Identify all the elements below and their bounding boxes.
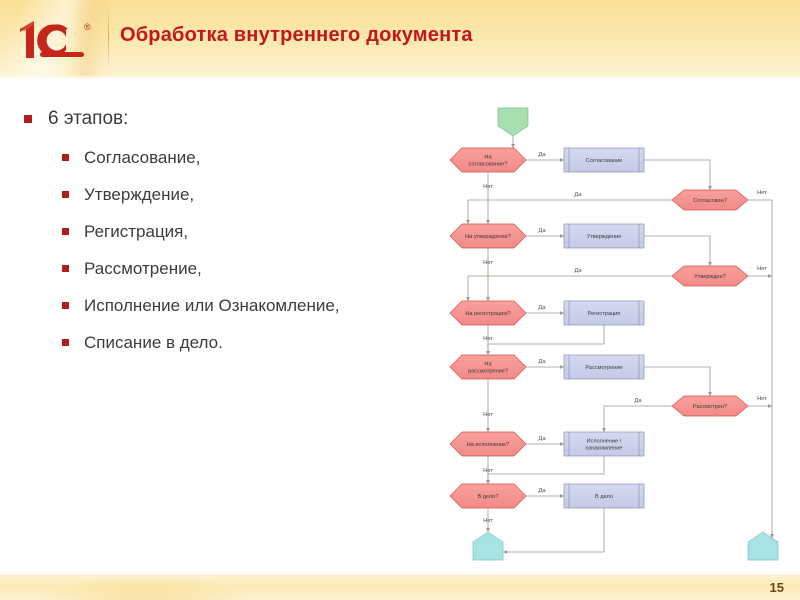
stage-sub-list: Согласование, Утверждение, Регистрация, … xyxy=(60,148,432,353)
flowchart-node-d-soglasovan[interactable]: Согласован? xyxy=(672,190,748,210)
flowchart-edge-label-17: Нет xyxy=(483,518,493,524)
flowchart-edge-23 xyxy=(503,508,604,552)
flowchart-edge-label-1: Нет xyxy=(483,184,493,190)
list-item-label: Списание в дело. xyxy=(84,333,223,352)
end-terminator-shape xyxy=(748,532,778,560)
flowchart-node-d-ispoln[interactable]: На исполнение? xyxy=(450,432,526,456)
flowchart-edge-label-4: Да xyxy=(538,228,546,234)
svg-text:Рассмотрен?: Рассмотрен? xyxy=(693,404,727,410)
list-item: Рассмотрение, xyxy=(60,259,432,279)
slide-footer xyxy=(0,574,800,600)
1c-logo: ® xyxy=(14,14,102,64)
flowchart-edge-20 xyxy=(488,456,604,484)
svg-text:Рассмотрение: Рассмотрение xyxy=(585,365,622,371)
flowchart-edge-label-2: Нет xyxy=(757,190,767,196)
flowchart-node-end-right[interactable] xyxy=(748,532,778,560)
bullet-square-icon xyxy=(62,339,69,346)
list-item: Согласование, xyxy=(60,148,432,168)
list-item: Списание в дело. xyxy=(60,333,432,353)
flowchart-edge-3 xyxy=(468,200,672,224)
flowchart-node-p-reg[interactable]: Регистрация xyxy=(564,301,644,325)
flowchart-edge-label-9: Нет xyxy=(483,336,493,342)
flowchart-edge-label-8: Да xyxy=(538,305,546,311)
flowchart-node-end-left[interactable] xyxy=(473,532,503,560)
svg-text:Согласован?: Согласован? xyxy=(693,198,727,204)
list-item-label: Регистрация, xyxy=(84,222,188,241)
slide: ® Обработка внутреннего документа 6 этап… xyxy=(0,0,800,600)
flowchart-node-p-soglas[interactable]: Согласование xyxy=(564,148,644,172)
svg-text:Регистрация: Регистрация xyxy=(588,311,621,317)
flowchart-edge-label-5: Нет xyxy=(483,260,493,266)
svg-text:На исполнение?: На исполнение? xyxy=(467,442,510,448)
list-item: Регистрация, xyxy=(60,222,432,242)
svg-text:На регистрацию?: На регистрацию? xyxy=(465,311,510,317)
bullet-square-icon xyxy=(24,115,32,123)
flowchart-edge-label-15: Нет xyxy=(483,468,493,474)
svg-text:В дело?: В дело? xyxy=(477,494,498,500)
list-item-label: Рассмотрение, xyxy=(84,259,202,278)
svg-text:Утвержден?: Утвержден? xyxy=(694,274,726,280)
flowchart-edge-2 xyxy=(644,160,710,190)
start-terminator-shape xyxy=(498,108,528,136)
flowchart-nodes: Насогласование?СогласованиеСогласован?На… xyxy=(450,108,778,560)
flowchart-edge-16 xyxy=(604,406,672,432)
flowchart-edge-label-12: Нет xyxy=(757,396,767,402)
workflow-flowchart: Насогласование?СогласованиеСогласован?На… xyxy=(432,104,796,574)
bullet-square-icon xyxy=(62,154,69,161)
flowchart-edge-12 xyxy=(488,325,604,355)
flowchart-edge-label-10: Да xyxy=(538,359,546,365)
stage-list: 6 этапов: Согласование, Утверждение, Рег… xyxy=(22,108,432,370)
flowchart-node-p-delo[interactable]: В дело xyxy=(564,484,644,508)
header-bottom-line xyxy=(0,76,800,78)
flowchart-edge-label-11: Нет xyxy=(483,412,493,418)
flowchart-node-p-utver[interactable]: Утверждение xyxy=(564,224,644,248)
flowchart-node-p-rassm[interactable]: Рассмотрение xyxy=(564,355,644,379)
flowchart-edge-8 xyxy=(468,276,672,301)
flowchart-edge-15 xyxy=(644,367,710,396)
bullet-square-icon xyxy=(62,228,69,235)
svg-text:Утверждение: Утверждение xyxy=(587,234,622,240)
flowchart-node-d-reg[interactable]: На регистрацию? xyxy=(450,301,526,325)
bullet-square-icon xyxy=(62,265,69,272)
page-number: 15 xyxy=(770,580,784,595)
flowchart-edge-7 xyxy=(644,236,710,266)
registered-mark: ® xyxy=(84,22,91,32)
flowchart-edge-label-14: Да xyxy=(538,436,546,442)
stage-list-heading-label: 6 этапов: xyxy=(48,108,128,129)
list-item-label: Исполнение или Ознакомление, xyxy=(84,296,340,315)
flowchart-node-d-rassmotren[interactable]: Рассмотрен? xyxy=(672,396,748,416)
flowchart-edge-label-16: Да xyxy=(538,488,546,494)
svg-text:Исполнение \ознакомление: Исполнение \ознакомление xyxy=(586,439,623,452)
list-item-label: Утверждение, xyxy=(84,185,194,204)
header-divider xyxy=(108,8,109,70)
flowchart-edge-label-0: Да xyxy=(538,152,546,158)
flowchart-node-start[interactable] xyxy=(498,108,528,136)
flowchart-node-p-ispoln[interactable]: Исполнение \ознакомление xyxy=(564,432,644,456)
slide-header: ® Обработка внутреннего документа xyxy=(0,0,800,78)
list-item-label: Согласование, xyxy=(84,148,200,167)
svg-text:В дело: В дело xyxy=(595,494,613,500)
page-title: Обработка внутреннего документа xyxy=(120,24,473,47)
flowchart-node-d-utver[interactable]: На утверждение? xyxy=(450,224,526,248)
list-item: Утверждение, xyxy=(60,185,432,205)
footer-sheen xyxy=(30,574,260,600)
flowchart-edge-4 xyxy=(748,200,772,538)
list-item: Исполнение или Ознакомление, xyxy=(60,296,432,316)
flowchart-edge-label-6: Нет xyxy=(757,266,767,272)
stage-list-heading: 6 этапов: xyxy=(22,108,432,130)
flowchart-edge-label-7: Да xyxy=(574,268,582,274)
svg-text:На утверждение?: На утверждение? xyxy=(465,234,511,240)
end-terminator-shape xyxy=(473,532,503,560)
flowchart-node-d-delo[interactable]: В дело? xyxy=(450,484,526,508)
flowchart-node-d-rassm[interactable]: Нарассмотрение? xyxy=(450,355,526,379)
flowchart-node-d-utverzhden[interactable]: Утвержден? xyxy=(672,266,748,286)
flowchart-node-d-soglas[interactable]: Насогласование? xyxy=(450,148,526,172)
svg-text:Согласование: Согласование xyxy=(586,158,623,164)
bullet-square-icon xyxy=(62,302,69,309)
flowchart-edge-label-13: Да xyxy=(634,398,642,404)
flowchart-edge-label-3: Да xyxy=(574,192,582,198)
bullet-square-icon xyxy=(62,191,69,198)
